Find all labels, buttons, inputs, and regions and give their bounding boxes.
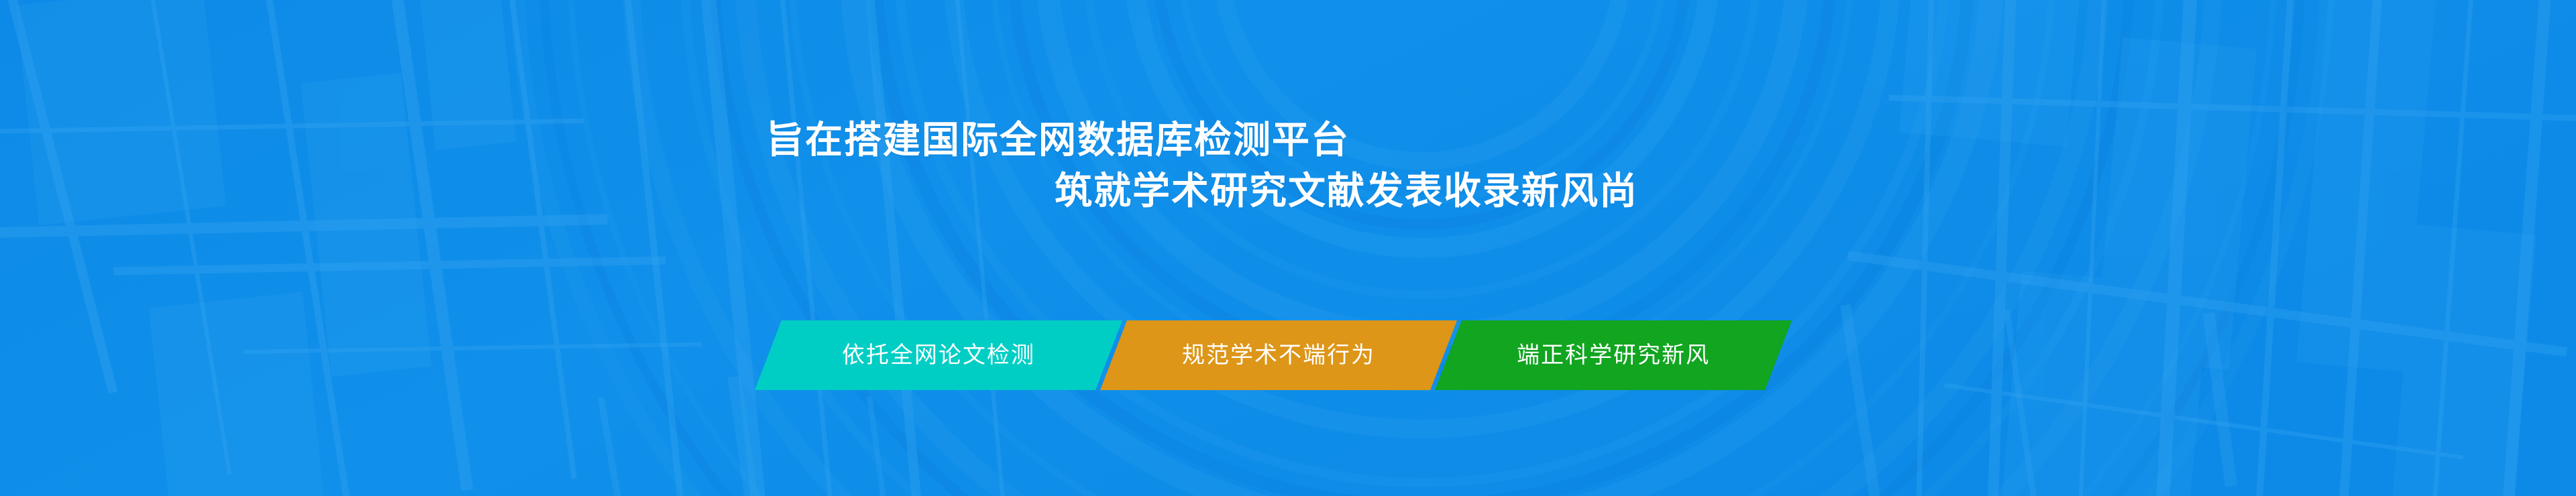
background-decoration — [0, 0, 2576, 496]
promo-banner: 旨在搭建国际全网数据库检测平台 筑就学术研究文献发表收录新风尚 依托全网论文检测… — [0, 0, 2576, 496]
feature-tag-strip: 依托全网论文检测 规范学术不端行为 端正科学研究新风 — [768, 320, 1778, 390]
feature-tag-research-ethics[interactable]: 端正科学研究新风 — [1435, 320, 1792, 390]
feature-tag-label: 规范学术不端行为 — [1182, 344, 1375, 367]
feature-tag-label: 依托全网论文检测 — [842, 344, 1035, 367]
feature-tag-label: 端正科学研究新风 — [1517, 344, 1710, 367]
feature-tag-plagiarism-detection[interactable]: 依托全网论文检测 — [755, 320, 1122, 390]
feature-tag-academic-misconduct[interactable]: 规范学术不端行为 — [1100, 320, 1457, 390]
